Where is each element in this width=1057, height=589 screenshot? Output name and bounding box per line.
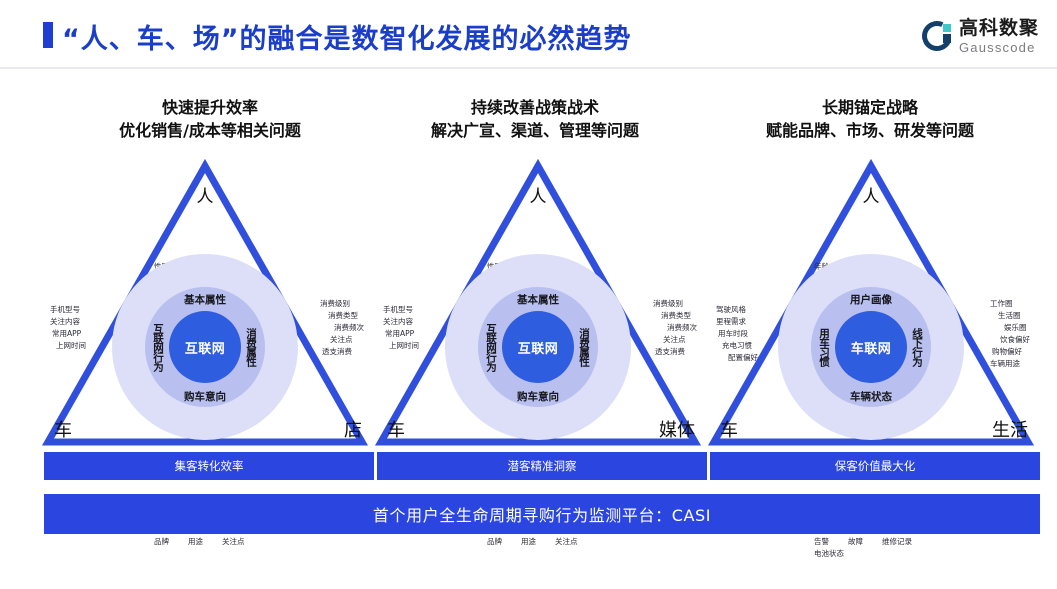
ring-label-left: 用车习惯 [817, 328, 832, 366]
attr: 娱乐圈 [990, 322, 1030, 334]
attr: 关注内容 [50, 316, 86, 328]
triangle-2-attrs-west: 手机型号 关注内容 常用APP 上网时间 [383, 304, 419, 352]
triangle-2-rings: 互联网 基本属性 购车意向 互联网行为 消费属性 互联网 [445, 254, 631, 440]
ring-label-left: 互联网行为 [484, 323, 499, 371]
attr: 关注点 [222, 536, 256, 548]
brand-logo: 高科数聚 Gausscode [922, 14, 1039, 58]
triangle-2-corner-right: 媒体 [659, 416, 695, 442]
page-title: “人、车、场”的融合是数智化发展的必然趋势 [62, 17, 632, 56]
attr: 消费类型 [653, 310, 697, 322]
ring-label-right: 线下行为 [910, 328, 925, 366]
attr: 消费频次 [320, 322, 364, 334]
attr: 常用APP [50, 328, 86, 340]
attr: 生活圈 [990, 310, 1030, 322]
attr: 关注点 [653, 334, 697, 346]
attr: 消费级别 [320, 298, 364, 310]
attr: 关注点 [555, 536, 589, 548]
attr: 驾驶风格 [716, 304, 758, 316]
attr: 工作圈 [990, 298, 1030, 310]
header-divider [0, 67, 1057, 69]
triangle-1-rings: 互联网 基本属性 购车意向 互联网行为 消费属性 互联网 [112, 254, 298, 440]
attr: 品牌 [154, 536, 188, 548]
attr: 品牌 [487, 536, 521, 548]
triangle-3-corner-left: 车 [720, 416, 738, 442]
attr: 透支消费 [320, 346, 364, 358]
column-heading-2-line2: 解决广宣、渠道、管理等问题 [365, 119, 705, 142]
triangle-3-apex-label: 人 [706, 182, 1036, 207]
logo-text: 高科数聚 Gausscode [959, 19, 1039, 54]
title-accent-bar [43, 22, 53, 48]
triangle-2-apex-label: 人 [373, 182, 703, 207]
column-heading-1: 快速提升效率 优化销售/成本等相关问题 [30, 96, 390, 142]
attr: 配置偏好 [716, 352, 758, 364]
triangle-3-attrs-east: 工作圈 生活圈 娱乐圈 饮食偏好 购物偏好 车辆用途 [990, 298, 1030, 370]
attr: 用途 [188, 536, 222, 548]
attr: 消费类型 [320, 310, 364, 322]
attr: 购物偏好 [990, 346, 1030, 358]
triangle-stage: 人 车 店 性别婚姻收入 年龄职业家庭 居住地 手机型号 关注内容 常用APP … [0, 158, 1057, 458]
triangle-2-attrs-east: 消费级别 消费类型 消费频次 关注点 透支消费 [653, 298, 697, 358]
ring-core: 车联网 [835, 311, 907, 383]
page-header: “人、车、场”的融合是数智化发展的必然趋势 高科数聚 Gausscode [0, 0, 1057, 68]
logo-name-cn: 高科数聚 [959, 19, 1039, 38]
attr: 消费级别 [653, 298, 697, 310]
ring-label-left: 互联网行为 [151, 323, 166, 371]
attr: 维修记录 [882, 536, 928, 548]
attr: 透支消费 [653, 346, 697, 358]
triangle-2-corner-left: 车 [387, 416, 405, 442]
outcome-bar-3: 保客价值最大化 [710, 452, 1040, 480]
column-heading-1-line2: 优化销售/成本等相关问题 [30, 119, 390, 142]
ring-label-top: 基本属性 [184, 292, 226, 307]
ring-label-bottom: 购车意向 [184, 389, 226, 404]
column-heading-3-line2: 赋能品牌、市场、研发等问题 [690, 119, 1050, 142]
column-heading-2: 持续改善战策战术 解决广宣、渠道、管理等问题 [365, 96, 705, 142]
outcome-bars: 集客转化效率 潜客精准洞察 保客价值最大化 [0, 452, 1057, 482]
triangle-3-corner-right: 生活 [992, 416, 1028, 442]
column-heading-2-line1: 持续改善战策战术 [365, 96, 705, 119]
ring-core-label: 互联网 [185, 338, 226, 357]
ring-label-top: 基本属性 [517, 292, 559, 307]
attr: 电池状态 [814, 548, 860, 560]
triangle-3-attrs-west: 驾驶风格 里程需求 用车时段 充电习惯 配置偏好 [716, 304, 758, 364]
attr: 车辆用途 [990, 358, 1030, 370]
triangle-3-rings: 车联网 用户画像 车辆状态 用车习惯 线下行为 车联网 [778, 254, 964, 440]
triangle-diagram-2: 人 车 媒体 性别婚姻收入 年龄职业家庭 居住地 手机型号 关注内容 常用APP… [373, 158, 703, 450]
logo-mark-icon [922, 21, 952, 51]
triangle-1-apex-label: 人 [40, 182, 370, 207]
attr: 上网时间 [50, 340, 86, 352]
attr: 用途 [521, 536, 555, 548]
attr: 告警 [814, 536, 848, 548]
ring-core: 互联网 [169, 311, 241, 383]
triangle-diagram-3: 人 车 生活 年龄性别品牌忠诚 职业居住地资产等 级 驾驶风格 里程需求 用车时… [706, 158, 1036, 450]
ring-label-right: 消费属性 [244, 328, 259, 366]
triangle-diagram-1: 人 车 店 性别婚姻收入 年龄职业家庭 居住地 手机型号 关注内容 常用APP … [40, 158, 370, 450]
column-heading-3: 长期锚定战略 赋能品牌、市场、研发等问题 [690, 96, 1050, 142]
ring-core-label: 车联网 [851, 338, 892, 357]
attr: 里程需求 [716, 316, 758, 328]
ring-label-right: 消费属性 [577, 328, 592, 366]
footer-platform-bar: 首个用户全生命周期寻购行为监测平台：CASI [44, 494, 1040, 534]
ring-label-bottom: 车辆状态 [850, 389, 892, 404]
attr: 用车时段 [716, 328, 758, 340]
attr: 上网时间 [383, 340, 419, 352]
attr: 手机型号 [50, 304, 86, 316]
outcome-bar-1: 集客转化效率 [44, 452, 374, 480]
triangle-1-corner-right: 店 [344, 416, 362, 442]
logo-square-teal [943, 24, 951, 32]
triangle-1-attrs-east: 消费级别 消费类型 消费频次 关注点 透支消费 [320, 298, 364, 358]
logo-name-en: Gausscode [959, 41, 1039, 54]
column-heading-3-line1: 长期锚定战略 [690, 96, 1050, 119]
attr: 常用APP [383, 328, 419, 340]
triangle-1-corner-left: 车 [54, 416, 72, 442]
triangle-1-attrs-west: 手机型号 关注内容 常用APP 上网时间 [50, 304, 86, 352]
attr: 手机型号 [383, 304, 419, 316]
attr: 消费频次 [653, 322, 697, 334]
ring-core-label: 互联网 [518, 338, 559, 357]
attr: 故障 [848, 536, 882, 548]
logo-square-navy [943, 34, 951, 43]
attr: 关注点 [320, 334, 364, 346]
attr: 饮食偏好 [990, 334, 1030, 346]
attr: 关注内容 [383, 316, 419, 328]
ring-label-bottom: 购车意向 [517, 389, 559, 404]
outcome-bar-2: 潜客精准洞察 [377, 452, 707, 480]
attr: 充电习惯 [716, 340, 758, 352]
column-headings: 快速提升效率 优化销售/成本等相关问题 持续改善战策战术 解决广宣、渠道、管理等… [0, 96, 1057, 156]
ring-label-top: 用户画像 [850, 292, 892, 307]
column-heading-1-line1: 快速提升效率 [30, 96, 390, 119]
ring-core: 互联网 [502, 311, 574, 383]
